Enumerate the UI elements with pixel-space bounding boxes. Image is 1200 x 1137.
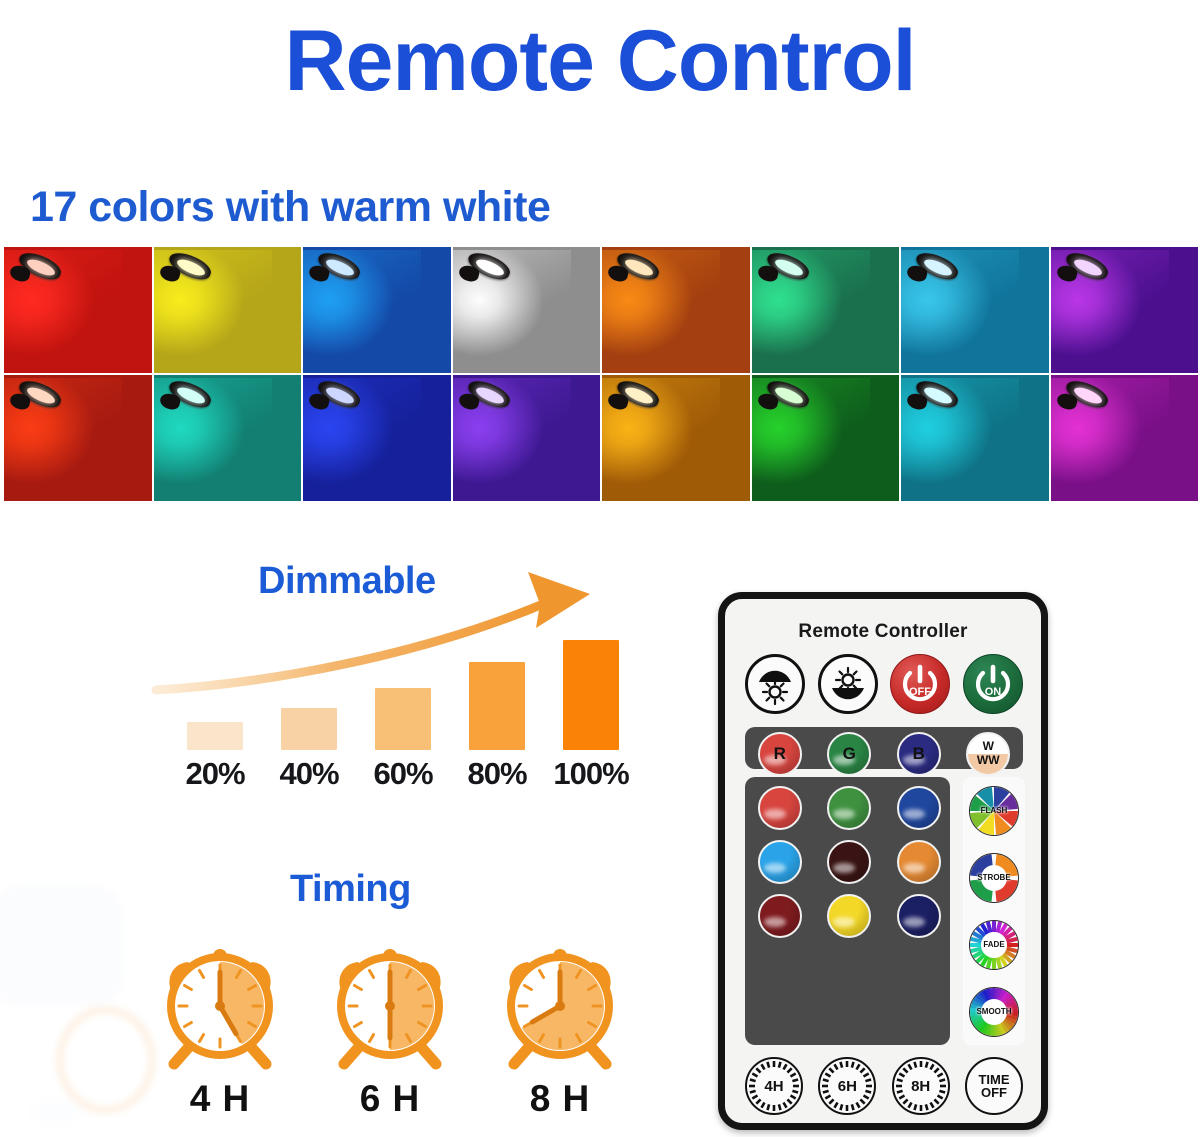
color-swatch-teal xyxy=(154,375,302,501)
spotlight-fixture-icon xyxy=(457,252,515,288)
spotlight-fixture-icon xyxy=(905,252,963,288)
spotlight-fixture-icon xyxy=(158,380,216,416)
timer-button-time-off[interactable]: TIMEOFF xyxy=(965,1057,1023,1115)
timing-clock-4H: 4 H xyxy=(145,940,295,1120)
color-button-g[interactable]: G xyxy=(827,732,871,776)
remote-title: Remote Controller xyxy=(725,621,1041,643)
color-button-12[interactable] xyxy=(758,894,802,938)
timing-clock-8H: 8 H xyxy=(485,940,635,1120)
color-button-13[interactable] xyxy=(827,894,871,938)
timer-button-4h[interactable]: 4H xyxy=(745,1057,803,1115)
brightness-down-icon xyxy=(822,658,874,710)
bar-column xyxy=(450,620,544,750)
timer-button-label: 8H xyxy=(911,1079,930,1094)
spotlight-fixture-icon xyxy=(1055,252,1113,288)
bar-label: 20% xyxy=(168,756,262,792)
color-swatch-yellow xyxy=(154,247,302,373)
alarm-clock-icon xyxy=(145,940,295,1072)
bar-80 xyxy=(469,662,525,750)
timing-title: Timing xyxy=(290,868,411,911)
bar-column xyxy=(356,620,450,750)
timing-clock-6H: 6 H xyxy=(315,940,465,1120)
brightness-up-button[interactable] xyxy=(745,654,805,714)
spotlight-fixture-icon xyxy=(8,380,66,416)
power-icon: OFF xyxy=(895,659,945,709)
spotlight-fixture-icon xyxy=(606,252,664,288)
bar-40 xyxy=(281,708,337,750)
timer-button-8h[interactable]: 8H xyxy=(892,1057,950,1115)
color-button-8[interactable] xyxy=(758,840,802,884)
colors-subtitle: 17 colors with warm white xyxy=(30,183,550,232)
color-swatch-dark-blue xyxy=(303,375,451,501)
effect-button-fade[interactable]: FADE xyxy=(969,920,1019,970)
color-button-label: B xyxy=(913,744,925,764)
power-on-button[interactable]: ON xyxy=(963,654,1023,714)
color-button-9[interactable] xyxy=(827,840,871,884)
bar-label: 100% xyxy=(544,756,638,792)
color-button-4[interactable] xyxy=(758,786,802,830)
spotlight-fixture-icon xyxy=(756,252,814,288)
color-swatch-green-bright xyxy=(752,375,900,501)
remote-timer-button-row: 4H6H8HTIMEOFF xyxy=(745,1057,1023,1115)
color-swatch-cyan xyxy=(901,247,1049,373)
color-button-14[interactable] xyxy=(897,894,941,938)
spotlight-fixture-icon xyxy=(905,380,963,416)
spotlight-fixture-icon xyxy=(1055,380,1113,416)
brightness-down-button[interactable] xyxy=(818,654,878,714)
timer-button-6h[interactable]: 6H xyxy=(818,1057,876,1115)
clock-label: 8 H xyxy=(530,1078,591,1120)
timer-button-label: TIMEOFF xyxy=(978,1073,1009,1099)
bar-column xyxy=(262,620,356,750)
spotlight-fixture-icon xyxy=(158,252,216,288)
spotlight-fixture-icon xyxy=(307,380,365,416)
color-button-label: G xyxy=(843,744,856,764)
effect-button-smooth[interactable]: SMOOTH xyxy=(969,987,1019,1037)
power-off-button[interactable]: OFF xyxy=(890,654,950,714)
color-button-b[interactable]: B xyxy=(897,732,941,776)
color-swatch-red-warm xyxy=(4,375,152,501)
bar-label: 40% xyxy=(262,756,356,792)
color-swatch-grid xyxy=(4,247,1198,501)
effect-button-flash[interactable]: FLASH xyxy=(969,786,1019,836)
color-button-w-ww[interactable]: WWW xyxy=(966,732,1010,776)
dimmable-bar-labels: 20%40%60%80%100% xyxy=(168,756,638,792)
color-button-label: R xyxy=(774,744,786,764)
remote-top-button-row: OFFON xyxy=(745,654,1023,714)
ww-label: WW xyxy=(977,754,1000,768)
color-button-6[interactable] xyxy=(897,786,941,830)
color-swatch-green xyxy=(752,247,900,373)
alarm-clock-icon xyxy=(485,940,635,1072)
color-swatch-orange xyxy=(602,247,750,373)
bar-column xyxy=(168,620,262,750)
remote-effect-button-column: FLASHSTROBEFADESMOOTH xyxy=(963,777,1025,1045)
bar-100 xyxy=(563,640,619,750)
spotlight-fixture-icon xyxy=(8,252,66,288)
ghost-product-watermark xyxy=(0,880,166,1135)
timing-clock-row: 4 H6 H8 H xyxy=(145,940,635,1120)
color-swatch-red xyxy=(4,247,152,373)
color-button-5[interactable] xyxy=(827,786,871,830)
spotlight-fixture-icon xyxy=(606,380,664,416)
w-label: W xyxy=(983,740,994,754)
bar-column xyxy=(544,620,638,750)
timing-section: Timing 4 H6 H8 H xyxy=(145,868,635,1128)
power-icon: ON xyxy=(968,659,1018,709)
color-swatch-violet xyxy=(453,375,601,501)
alarm-clock-icon xyxy=(315,940,465,1072)
svg-text:ON: ON xyxy=(985,686,1002,698)
effect-button-label: FADE xyxy=(970,921,1018,969)
timer-button-label: 4H xyxy=(764,1079,783,1094)
color-swatch-amber xyxy=(602,375,750,501)
color-swatch-purple xyxy=(1051,247,1199,373)
bar-label: 80% xyxy=(450,756,544,792)
color-swatch-white xyxy=(453,247,601,373)
color-swatch-turquoise xyxy=(901,375,1049,501)
color-button-r[interactable]: R xyxy=(758,732,802,776)
effect-button-label: SMOOTH xyxy=(970,988,1018,1036)
remote-controller: Remote Controller OFFON RGBWWW FLASHSTRO… xyxy=(718,592,1048,1130)
effect-button-label: STROBE xyxy=(970,854,1018,902)
color-button-10[interactable] xyxy=(897,840,941,884)
clock-label: 6 H xyxy=(360,1078,421,1120)
bar-20 xyxy=(187,722,243,750)
svg-text:OFF: OFF xyxy=(909,686,931,698)
spotlight-fixture-icon xyxy=(756,380,814,416)
bar-60 xyxy=(375,688,431,750)
color-swatch-magenta xyxy=(1051,375,1199,501)
effect-button-label: FLASH xyxy=(970,787,1018,835)
spotlight-fixture-icon xyxy=(307,252,365,288)
spotlight-fixture-icon xyxy=(457,380,515,416)
brightness-up-icon xyxy=(749,658,801,710)
color-swatch-blue xyxy=(303,247,451,373)
dimmable-bars xyxy=(168,620,638,750)
effect-button-strobe[interactable]: STROBE xyxy=(969,853,1019,903)
clock-label: 4 H xyxy=(190,1078,251,1120)
dimmable-section: Dimmable 20%40%60%80%100% xyxy=(150,560,650,810)
bar-label: 60% xyxy=(356,756,450,792)
timer-button-label: 6H xyxy=(838,1079,857,1094)
page-title: Remote Control xyxy=(0,18,1200,104)
